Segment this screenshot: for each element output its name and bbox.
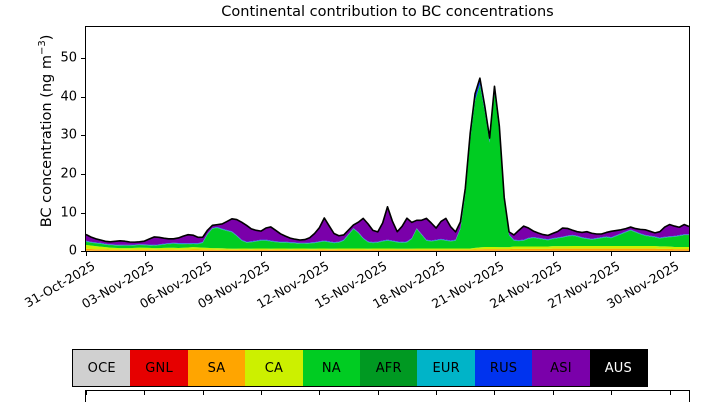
figure-canvas: Continental contribution to BC concentra… bbox=[0, 0, 713, 402]
secondary-panel-tick bbox=[378, 390, 379, 395]
y-tick-label: 40 bbox=[0, 89, 77, 104]
y-tick-label: 0 bbox=[0, 244, 77, 259]
secondary-panel-tick bbox=[144, 390, 145, 395]
y-axis-label-tail: ) bbox=[39, 35, 55, 41]
legend-item-asi[interactable]: ASI bbox=[532, 350, 589, 386]
secondary-panel-top-border bbox=[86, 390, 689, 391]
legend-item-ca[interactable]: CA bbox=[245, 350, 302, 386]
legend-item-oce[interactable]: OCE bbox=[73, 350, 130, 386]
legend-item-label: NA bbox=[322, 361, 341, 376]
legend-item-sa[interactable]: SA bbox=[188, 350, 245, 386]
x-tick-mark bbox=[611, 252, 612, 256]
y-tick-label: 10 bbox=[0, 205, 77, 220]
legend-item-afr[interactable]: AFR bbox=[360, 350, 417, 386]
secondary-panel-tick bbox=[670, 390, 671, 395]
x-tick-mark bbox=[495, 252, 496, 256]
secondary-panel-tick bbox=[494, 390, 495, 395]
legend: OCEGNLSACANAAFREURRUSASIAUS bbox=[72, 349, 648, 387]
plot-area bbox=[85, 26, 690, 252]
stacked-area-plot bbox=[86, 27, 689, 251]
legend-item-gnl[interactable]: GNL bbox=[130, 350, 187, 386]
legend-item-label: AFR bbox=[376, 361, 402, 376]
secondary-panel-tick bbox=[319, 390, 320, 395]
x-tick-mark bbox=[553, 252, 554, 256]
secondary-panel-tick bbox=[261, 390, 262, 395]
legend-item-label: GNL bbox=[145, 361, 173, 376]
y-tick-label: 30 bbox=[0, 128, 77, 143]
secondary-panel-tick bbox=[553, 390, 554, 395]
x-tick-mark bbox=[261, 252, 262, 256]
secondary-panel-cropped bbox=[85, 390, 690, 402]
chart-title: Continental contribution to BC concentra… bbox=[85, 3, 690, 21]
legend-item-eur[interactable]: EUR bbox=[417, 350, 474, 386]
legend-item-label: EUR bbox=[432, 361, 459, 376]
secondary-panel-tick bbox=[436, 390, 437, 395]
secondary-panel-tick bbox=[86, 390, 87, 395]
secondary-panel-tick bbox=[611, 390, 612, 395]
x-tick-mark bbox=[378, 252, 379, 256]
x-tick-mark bbox=[203, 252, 204, 256]
secondary-panel-tick bbox=[203, 390, 204, 395]
legend-item-label: RUS bbox=[490, 361, 517, 376]
legend-item-label: ASI bbox=[550, 361, 572, 376]
legend-item-label: AUS bbox=[605, 361, 632, 376]
legend-item-rus[interactable]: RUS bbox=[475, 350, 532, 386]
legend-item-aus[interactable]: AUS bbox=[590, 350, 647, 386]
legend-item-label: SA bbox=[208, 361, 226, 376]
legend-item-label: CA bbox=[265, 361, 283, 376]
legend-item-na[interactable]: NA bbox=[303, 350, 360, 386]
x-tick-mark bbox=[320, 252, 321, 256]
x-tick-mark bbox=[145, 252, 146, 256]
y-tick-label: 50 bbox=[0, 51, 77, 66]
x-tick-mark bbox=[670, 252, 671, 256]
area-series-asi bbox=[86, 78, 689, 245]
y-tick-label: 20 bbox=[0, 166, 77, 181]
x-tick-mark bbox=[436, 252, 437, 256]
x-tick-mark bbox=[86, 252, 87, 256]
legend-item-label: OCE bbox=[88, 361, 116, 376]
